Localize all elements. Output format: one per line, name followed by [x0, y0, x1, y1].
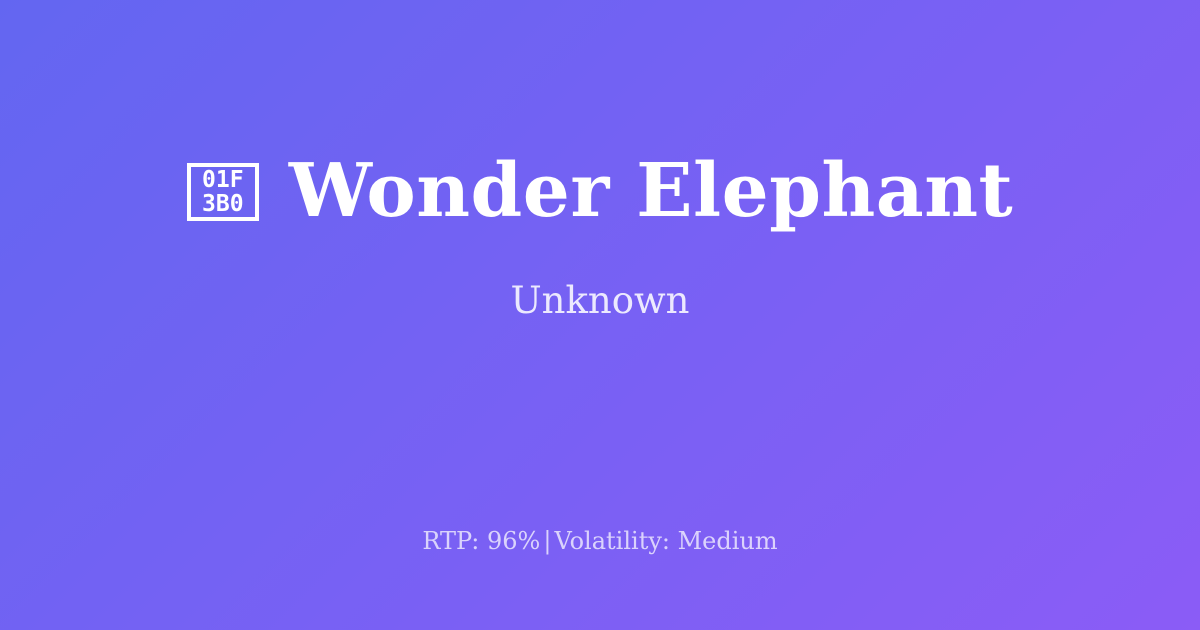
page-title: Wonder Elephant [289, 147, 1013, 235]
tofu-codepoint-top: 01F [202, 168, 244, 192]
game-og-card: 01F 3B0 Wonder Elephant Unknown RTP: 96%… [0, 0, 1200, 630]
tofu-codepoint-bottom: 3B0 [202, 192, 244, 216]
slot-machine-emoji-icon: 01F 3B0 [187, 163, 259, 221]
game-title-block: 01F 3B0 Wonder Elephant Unknown [0, 0, 1200, 470]
stats-separator: | [540, 527, 554, 555]
game-stats: RTP: 96%|Volatility: Medium [0, 525, 1200, 557]
rtp-stat: RTP: 96% [422, 527, 540, 555]
volatility-stat: Volatility: Medium [554, 527, 777, 555]
title-line: 01F 3B0 Wonder Elephant [0, 147, 1200, 235]
game-provider: Unknown [510, 279, 689, 323]
